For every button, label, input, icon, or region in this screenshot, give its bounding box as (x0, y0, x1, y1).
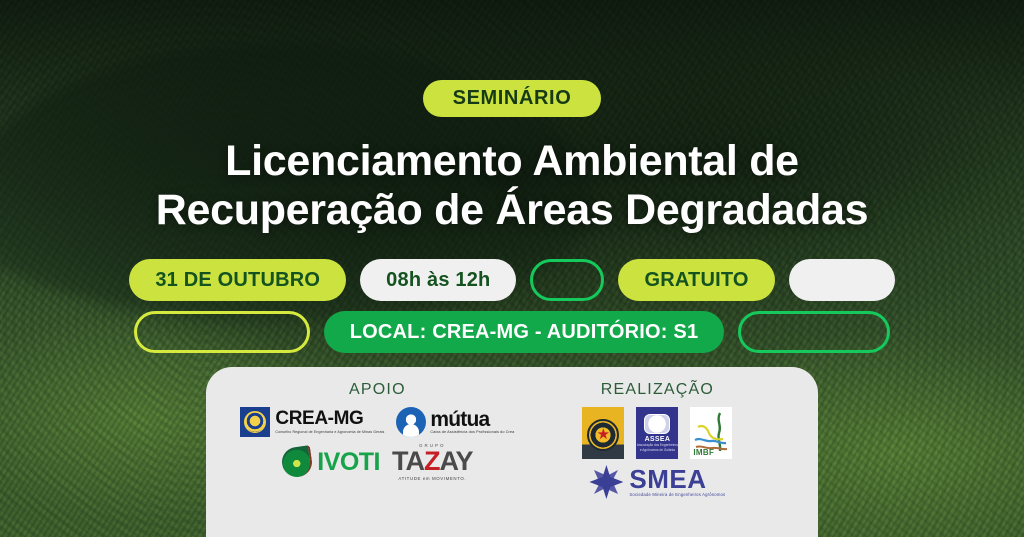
seminar-badge: SEMINÁRIO (423, 80, 602, 117)
decorative-pill-outline-yellow (134, 311, 310, 353)
decorative-pill-white (789, 259, 895, 301)
info-row-secondary: LOCAL: CREA-MG - AUDITÓRIO: S1 (134, 311, 891, 353)
event-price-badge: GRATUITO (618, 259, 774, 301)
decorative-pill-outline-green (530, 259, 604, 301)
event-time-badge: 08h às 12h (360, 259, 516, 301)
poster-content: SEMINÁRIO Licenciamento Ambiental de Rec… (0, 0, 1024, 537)
decorative-pill-outline-green-2 (738, 311, 890, 353)
title-line-2: Recuperação de Áreas Degradadas (156, 186, 868, 235)
page-title: Licenciamento Ambiental de Recuperação d… (156, 137, 868, 235)
title-line-1: Licenciamento Ambiental de (156, 137, 868, 186)
event-poster: SEMINÁRIO Licenciamento Ambiental de Rec… (0, 0, 1024, 537)
info-row-primary: 31 DE OUTUBRO 08h às 12h GRATUITO (129, 259, 894, 301)
event-location-badge: LOCAL: CREA-MG - AUDITÓRIO: S1 (324, 311, 725, 353)
event-date-badge: 31 DE OUTUBRO (129, 259, 346, 301)
